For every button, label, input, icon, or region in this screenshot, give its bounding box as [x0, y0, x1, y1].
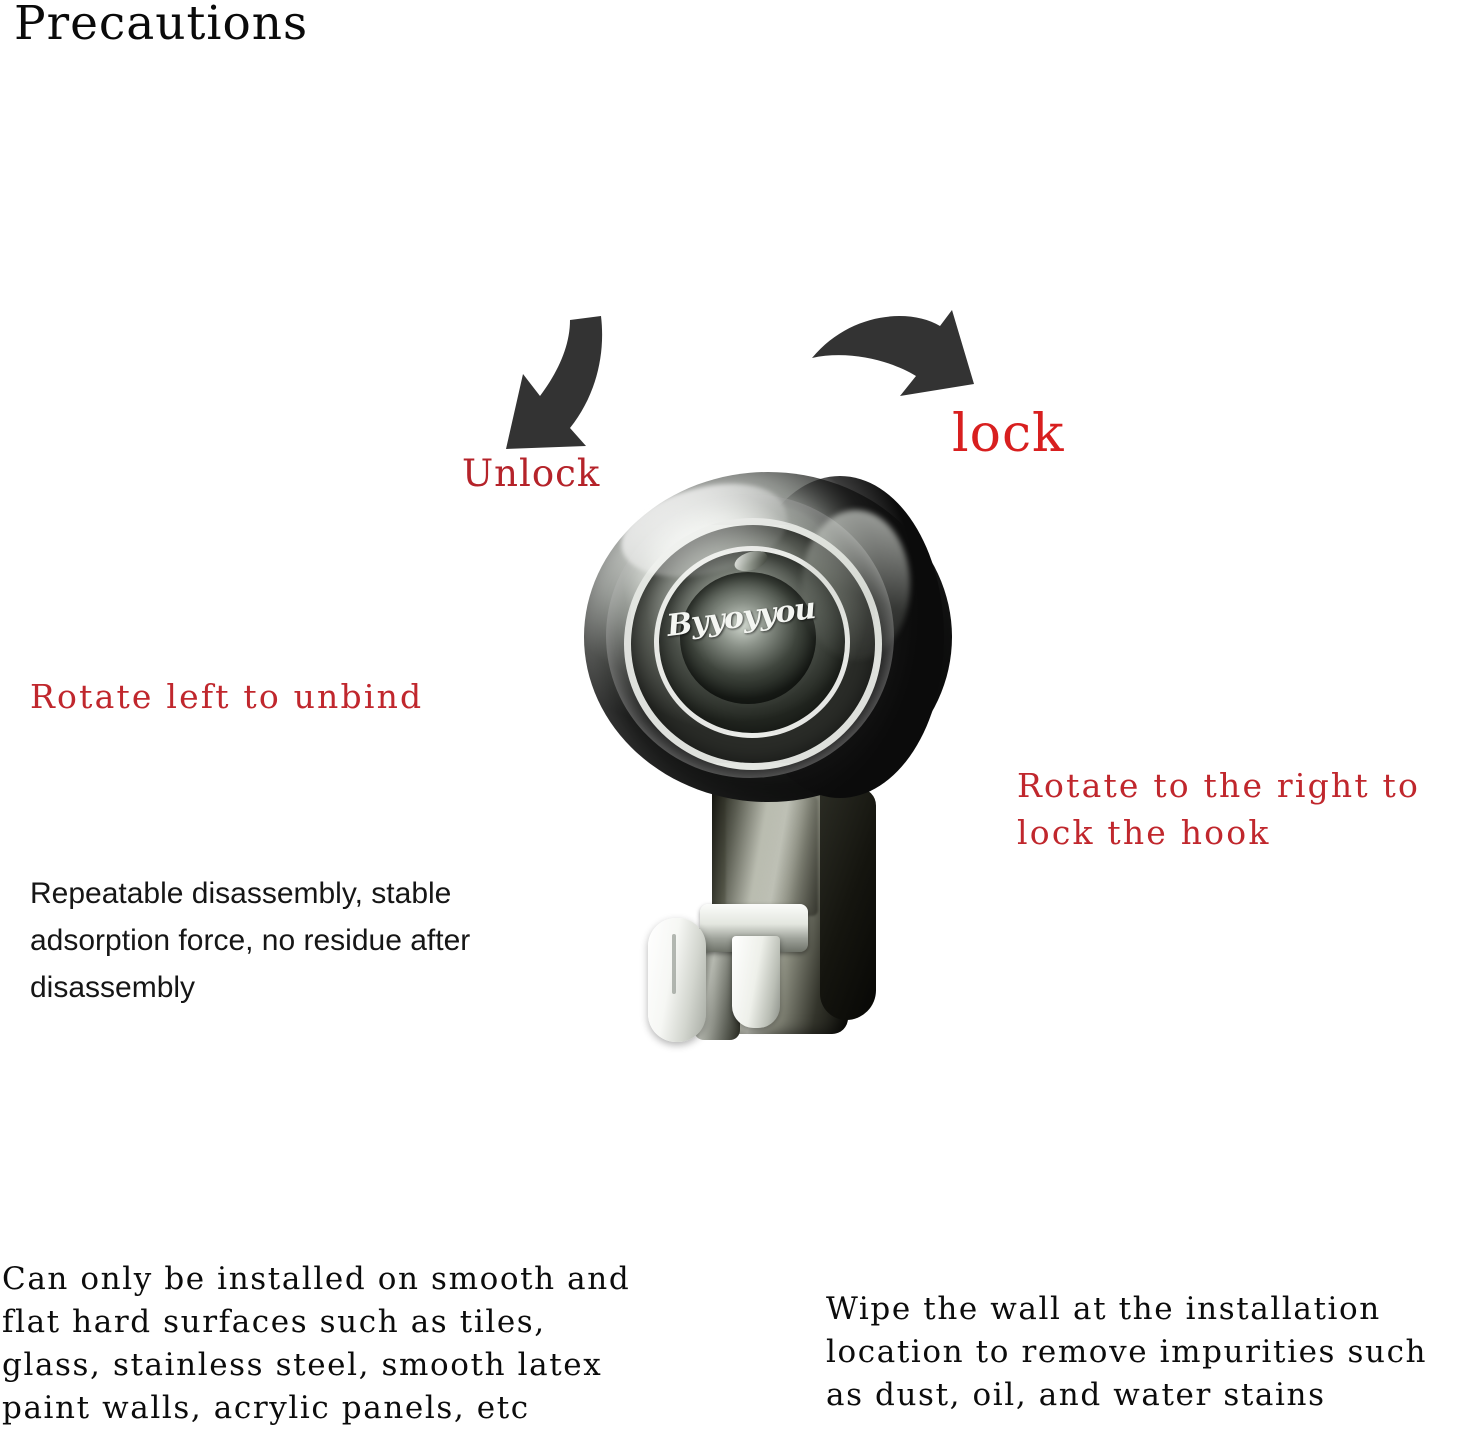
lock-label: lock — [952, 404, 1065, 464]
wall-cleaning-note: Wipe the wall at the installation locati… — [826, 1288, 1427, 1417]
suction-cup-highlight-2 — [802, 510, 910, 660]
hook-arm-side — [820, 788, 876, 1020]
curved-arrow-down-left-icon — [478, 306, 628, 456]
hook-tip-pad — [648, 918, 706, 1042]
rotate-right-instruction: Rotate to the right to lock the hook — [1017, 762, 1420, 856]
hook-arm-highlight — [726, 796, 818, 916]
product-image-suction-hook: Byyoyyou — [576, 466, 970, 1050]
precautions-infographic: Precautions Unlock lock Rotate left to u… — [0, 0, 1464, 1430]
hook-prong — [732, 936, 780, 1028]
surface-compatibility-note: Can only be installed on smooth and flat… — [2, 1258, 630, 1430]
page-title: Precautions — [14, 0, 308, 51]
suction-cup-center — [680, 572, 816, 704]
feature-note: Repeatable disassembly, stable adsorptio… — [30, 870, 550, 1011]
rotate-left-instruction: Rotate left to unbind — [30, 673, 423, 720]
